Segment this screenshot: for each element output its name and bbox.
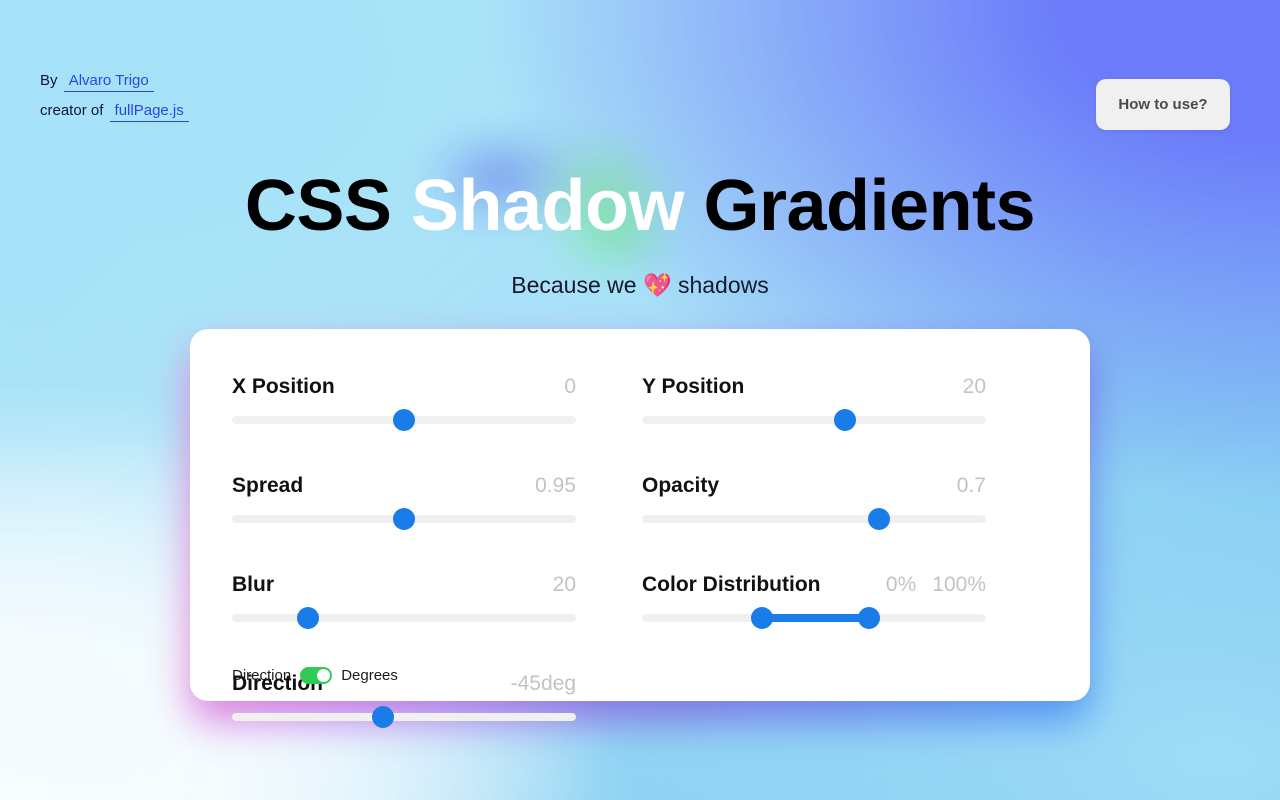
toggle-label-right: Degrees [341,667,398,684]
control-x-position: X Position 0 [232,365,576,431]
slider-thumb[interactable] [297,607,319,629]
how-to-use-button[interactable]: How to use? [1096,79,1230,130]
controls-card: X Position 0 Spread 0.95 [190,329,1090,701]
control-value-range: 0%100% [886,573,986,597]
slider-color-distribution[interactable] [642,607,986,629]
slider-thumb[interactable] [372,706,394,728]
credits: By Alvaro Trigo creator of fullPage.js [40,66,189,126]
control-spread: Spread 0.95 [232,464,576,530]
switch-knob [317,669,330,682]
control-label: Opacity [642,474,719,498]
control-value-max: 100% [932,573,986,596]
credits-project-row: creator of fullPage.js [40,96,189,126]
control-head: Spread 0.95 [232,464,576,498]
title-part-two: Gradients [684,166,1035,246]
control-label: Y Position [642,375,744,399]
title-highlight-word: Shadow [411,166,684,246]
control-label: X Position [232,375,335,399]
control-value: 20 [963,375,986,399]
slider-y-position[interactable] [642,409,986,431]
title-block: CSS Shadow Gradients [0,160,1280,252]
direction-degrees-switch[interactable] [300,667,332,684]
control-label: Color Distribution [642,573,820,597]
control-value: 0 [564,375,576,399]
slider-thumb[interactable] [393,508,415,530]
slider-thumb[interactable] [868,508,890,530]
control-label: Blur [232,573,274,597]
controls-column-left: X Position 0 Spread 0.95 [232,365,576,761]
control-blur: Blur 20 [232,563,576,629]
controls-column-right: Y Position 20 Opacity 0.7 [642,365,986,761]
controls-columns: X Position 0 Spread 0.95 [232,365,1048,761]
control-value: -45deg [511,672,576,696]
slider-track [232,614,576,622]
slider-thumb-max[interactable] [858,607,880,629]
page-subtitle: Because we 💖 shadows [0,272,1280,299]
credits-by-prefix: By [40,72,58,89]
control-head: X Position 0 [232,365,576,399]
slider-track [232,713,576,721]
control-label: Spread [232,474,303,498]
page-title: CSS Shadow Gradients [245,160,1035,252]
control-opacity: Opacity 0.7 [642,464,986,530]
slider-opacity[interactable] [642,508,986,530]
title-part-one: CSS [245,166,411,246]
credits-author-row: By Alvaro Trigo [40,66,189,96]
credits-creator-prefix: creator of [40,102,103,119]
slider-x-position[interactable] [232,409,576,431]
control-head: Y Position 20 [642,365,986,399]
control-head: Blur 20 [232,563,576,597]
slider-spread[interactable] [232,508,576,530]
fullpage-link[interactable]: fullPage.js [110,102,189,122]
control-head: Opacity 0.7 [642,464,986,498]
control-value: 20 [553,573,576,597]
slider-track [642,515,986,523]
control-value: 0.7 [957,474,986,498]
author-link[interactable]: Alvaro Trigo [64,72,154,92]
slider-thumb-min[interactable] [751,607,773,629]
control-value-min: 0% [886,573,916,596]
title-highlight-text: Shadow [411,166,684,246]
slider-direction[interactable] [232,706,576,728]
slider-thumb[interactable] [393,409,415,431]
slider-blur[interactable] [232,607,576,629]
control-y-position: Y Position 20 [642,365,986,431]
slider-track [642,416,986,424]
slider-range-fill [762,614,869,622]
control-color-distribution: Color Distribution 0%100% [642,563,986,629]
control-head: Color Distribution 0%100% [642,563,986,597]
slider-thumb[interactable] [834,409,856,431]
controls-card-inner: X Position 0 Spread 0.95 [190,329,1090,701]
control-value: 0.95 [535,474,576,498]
direction-degrees-toggle-row: Direction Degrees [232,667,398,684]
toggle-label-left: Direction [232,667,291,684]
